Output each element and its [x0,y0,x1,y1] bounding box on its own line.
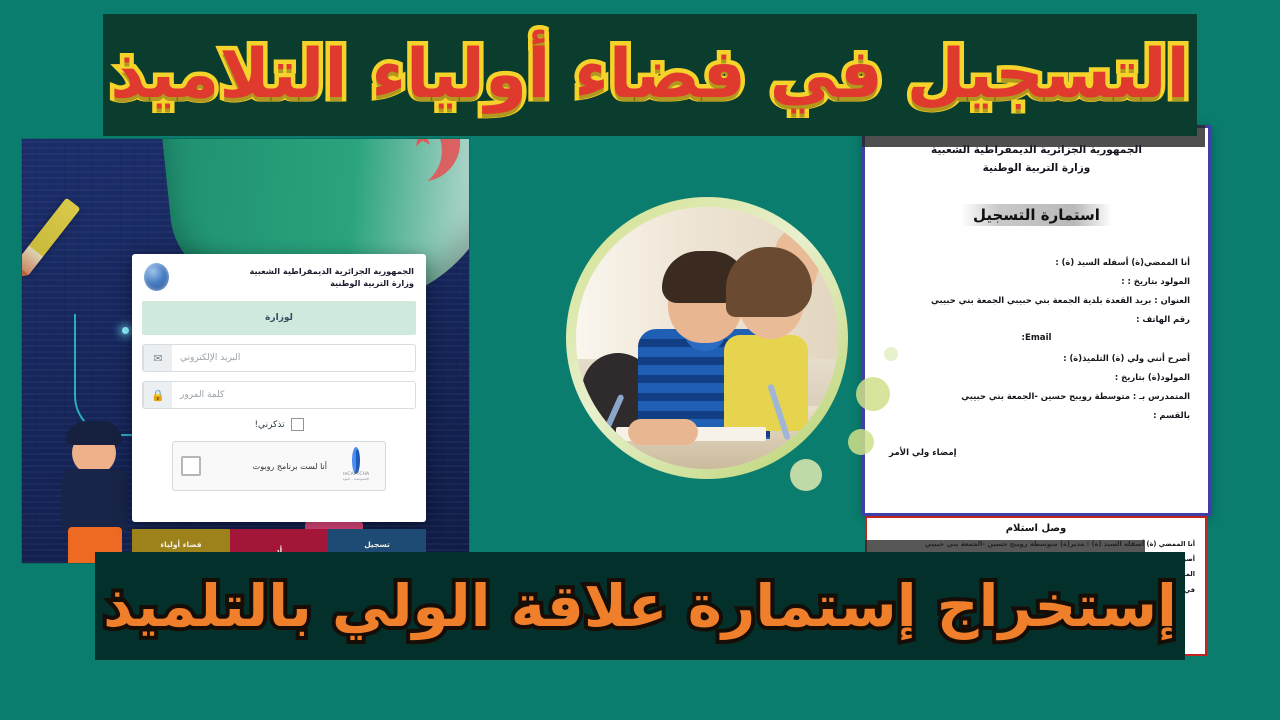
doc-line-birthdate: المولود بتاريخ : : [883,275,1190,287]
boy-illustration [50,413,142,563]
document-signature: إمضاء ولي الأمر [883,448,1190,458]
decor-bubble [790,459,822,491]
remember-me-checkbox[interactable] [291,418,304,431]
doc-line-declarant: أنا الممضي(ة) أسفله السيد (ة) : [883,256,1190,268]
top-title-band [103,14,1197,136]
login-header-line2: وزارة التربية الوطنية [177,277,414,289]
document-body: أنا الممضي(ة) أسفله السيد (ة) : المولود … [883,256,1190,422]
doc-line-class: بالقسم : [883,409,1190,421]
decor-bubble [856,377,890,411]
star-icon: ★ [407,139,437,153]
bottom-title-band [95,552,1185,660]
tab-login-line1: تسجيل [364,539,390,551]
recaptcha-logo-icon: reCAPTCHA الخصوصية - البنود [335,451,377,481]
doc-line-address: العنوان : بريد القعدة بلدية الجمعة بني ح… [883,294,1190,306]
students-writing-photo-icon [576,207,838,469]
girl-hair [726,247,812,317]
login-header-line1: الجمهورية الجزائرية الديمقراطية الشعبية [177,265,414,277]
doc-line-phone: رقم الهاتف : [883,313,1190,325]
girl-yellow-top [724,335,808,431]
receipt-title: وصل استلام [877,523,1195,534]
poster-canvas: ★ الجمهورية الجزائرية الديمقرا [0,0,1280,720]
login-card: الجمهورية الجزائرية الديمقراطية الشعبية … [132,254,426,522]
registration-form-document: الجمهورية الجزائرية الديمقراطية الشعبية … [862,125,1211,516]
ministry-banner: لوزارة [142,301,416,335]
lock-icon: 🔒 [143,382,172,408]
password-input-placeholder[interactable]: كلمة المرور [172,382,415,408]
glow-dot-icon [122,327,129,334]
recaptcha-checkbox[interactable] [181,456,201,476]
boy-vest [62,469,128,531]
login-card-header: الجمهورية الجزائرية الديمقراطية الشعبية … [132,254,426,295]
remember-me-row[interactable]: تذكرني! [142,418,416,431]
decor-bubble [884,347,898,361]
document-header: الجمهورية الجزائرية الديمقراطية الشعبية … [883,142,1190,178]
envelope-icon: ✉ [143,345,172,371]
hand [628,419,698,445]
password-field[interactable]: 🔒 كلمة المرور [142,381,416,409]
doc-line-email: Email: [883,332,1190,344]
decor-bubble [848,429,874,455]
login-page-screenshot: ★ الجمهورية الجزائرية الديمقرا [22,139,469,563]
students-photo-circle [566,197,868,499]
recaptcha-legal: الخصوصية - البنود [335,477,377,481]
recaptcha-widget[interactable]: أنا لست برنامج روبوت reCAPTCHA الخصوصية … [172,441,386,491]
doc-line-guardian: أصرح أنني ولي (ة) التلميذ(ة) : [883,352,1190,364]
remember-me-label: تذكرني! [254,420,284,430]
document-title: استمارة التسجيل [961,204,1112,226]
tab-parents-space-line1: فضاء أولياء [160,539,201,551]
email-field[interactable]: ✉ البريد الإلكتروني [142,344,416,372]
doc-header-line2: وزارة التربية الوطنية [883,160,1190,178]
recaptcha-label: أنا لست برنامج روبوت [209,462,327,471]
email-input-placeholder[interactable]: البريد الإلكتروني [172,345,415,371]
doc-line-school: المتمدرس بـ : متوسطة رويبح حسين -الجمعة … [883,390,1190,402]
boy-cap-icon [66,421,122,445]
doc-line-pupil-birthdate: المولود(ة) بتاريخ : [883,371,1190,383]
algeria-ministry-emblem-icon [144,263,169,291]
